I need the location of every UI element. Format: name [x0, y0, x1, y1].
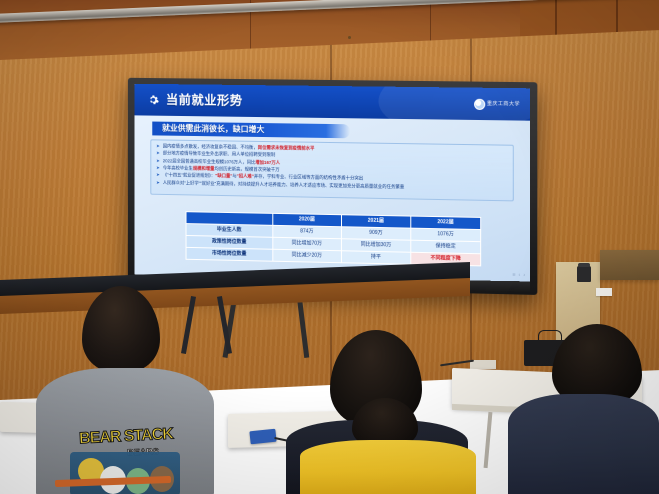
- bullet-arrow-icon: ➤: [156, 158, 160, 164]
- bullet-panel: ➤国内疫情多点散发，经济攻复杂不稳固、不均衡，岗位需求未恢复到疫情前水平➤部分地…: [150, 139, 513, 201]
- school-logo-mark: [474, 99, 485, 110]
- presentation-slide: 当前就业形势 重庆工商大学 就业供需此消彼长，缺口增大 ➤国内疫情多点散发，经济…: [135, 84, 530, 284]
- slide-next-icon[interactable]: ›: [523, 273, 525, 280]
- school-logo: 重庆工商大学: [474, 99, 520, 111]
- bullet-arrow-icon: ➤: [156, 180, 160, 186]
- overhead-shelf: [600, 250, 659, 280]
- tv-screen[interactable]: 当前就业形势 重庆工商大学 就业供需此消彼长，缺口增大 ➤国内疫情多点散发，经济…: [135, 84, 530, 284]
- table-cell-r2-c0: 同比减少20万: [273, 249, 342, 262]
- slide-banner-text: 就业供需此消彼长，缺口增大: [152, 123, 264, 135]
- student-center-yellow-body: [300, 440, 476, 494]
- bullet-arrow-icon: ➤: [156, 143, 160, 149]
- gear-icon: [147, 94, 159, 106]
- bullet-arrow-icon: ➤: [156, 165, 160, 171]
- electric-kettle: [577, 266, 591, 282]
- school-logo-text: 重庆工商大学: [487, 101, 520, 108]
- slide-title: 当前就业形势: [166, 92, 243, 110]
- table-body: 毕业生人数874万909万1076万政策性岗位数量同比增加70万同比增加30万保…: [186, 224, 481, 266]
- cable-bundle: [470, 360, 496, 369]
- slide-prev-icon[interactable]: ‹: [519, 273, 521, 280]
- phone-on-desk[interactable]: [249, 429, 276, 445]
- bag-handle: [538, 330, 562, 342]
- student-right-navy-body: [508, 394, 659, 494]
- statistics-table: 2020届2021届2022届 毕业生人数874万909万1076万政策性岗位数…: [186, 211, 482, 266]
- slide-banner: 就业供需此消彼长，缺口增大: [152, 122, 350, 139]
- table-cell-r2-c1: 持平: [341, 251, 410, 265]
- slide-menu-icon[interactable]: ≡: [512, 272, 515, 279]
- bullet-arrow-icon: ➤: [156, 172, 160, 178]
- kettle-lid: [578, 263, 590, 267]
- slide-header: 当前就业形势 重庆工商大学: [135, 84, 530, 121]
- paper-sheet: [596, 288, 612, 296]
- table-row-label: 市场性岗位数量: [186, 247, 273, 261]
- television[interactable]: 当前就业形势 重庆工商大学 就业供需此消彼长，缺口增大 ➤国内疫情多点散发，经济…: [125, 80, 535, 290]
- slide-navigation[interactable]: ≡ ‹ ›: [512, 272, 525, 279]
- bullet-arrow-icon: ➤: [156, 151, 160, 157]
- desk-right-leg: [484, 412, 493, 468]
- classroom-scene: 当前就业形势 重庆工商大学 就业供需此消彼长，缺口增大 ➤国内疫情多点散发，经济…: [0, 0, 659, 494]
